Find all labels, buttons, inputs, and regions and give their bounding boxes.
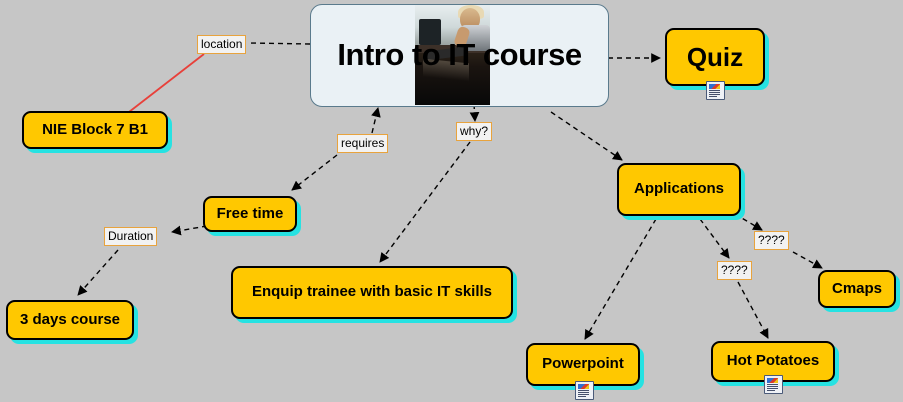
node-nie-block-7-b1[interactable]: NIE Block 7 B1 [22,111,168,149]
node-label: Cmaps [832,281,882,298]
concept-map-canvas[interactable]: Intro to IT course Quiz NIE Block 7 B1 F… [0,0,903,402]
node-label: Applications [634,181,724,198]
node-applications[interactable]: Applications [617,163,741,216]
edge-applications-to-unknown-2 [700,219,729,258]
edge-unknown-1-to-cmaps [793,252,822,268]
resource-document-icon[interactable] [575,381,594,400]
edge-applications-to-powerpoint [585,219,656,339]
node-label: 3 days course [20,312,120,329]
node-label: Enquip trainee with basic IT skills [252,284,492,301]
node-label: Intro to IT course [337,38,581,72]
link-label-text: ???? [758,233,785,247]
edge-why-to-enquip [380,142,470,262]
link-label-unknown-2[interactable]: ???? [717,261,752,280]
node-cmaps[interactable]: Cmaps [818,270,896,308]
node-free-time[interactable]: Free time [203,196,297,232]
link-label-text: why? [460,124,488,138]
edge-root-to-applications [551,112,622,160]
resource-document-icon[interactable] [764,375,783,394]
node-powerpoint[interactable]: Powerpoint [526,343,640,386]
node-enquip-trainee-basic-it-skills[interactable]: Enquip trainee with basic IT skills [231,266,513,319]
edge-requires-to-free-time [292,155,337,190]
edge-root-to-requires [372,108,378,133]
link-label-text: Duration [108,229,153,243]
edge-unknown-2-to-hot-potatoes [738,282,768,338]
link-label-duration[interactable]: Duration [104,227,157,246]
edge-root-to-location [250,43,310,44]
node-label: Free time [217,206,284,223]
node-label: Hot Potatoes [727,353,820,370]
edge-free-time-to-duration [172,226,207,232]
link-label-why[interactable]: why? [456,122,492,141]
resource-document-icon[interactable] [706,81,725,100]
node-3-days-course[interactable]: 3 days course [6,300,134,340]
node-quiz[interactable]: Quiz [665,28,765,86]
edge-applications-to-unknown-1 [735,214,762,230]
link-label-location[interactable]: location [197,35,246,54]
node-intro-to-it-course[interactable]: Intro to IT course [310,4,609,107]
edge-duration-to-three-days [78,250,118,295]
link-label-text: requires [341,136,384,150]
link-label-unknown-1[interactable]: ???? [754,231,789,250]
link-label-text: location [201,37,242,51]
node-label: Powerpoint [542,356,624,373]
link-label-text: ???? [721,263,748,277]
node-label: NIE Block 7 B1 [42,122,148,139]
node-label: Quiz [687,43,743,72]
edge-location-to-nie-block [129,54,204,112]
link-label-requires[interactable]: requires [337,134,388,153]
